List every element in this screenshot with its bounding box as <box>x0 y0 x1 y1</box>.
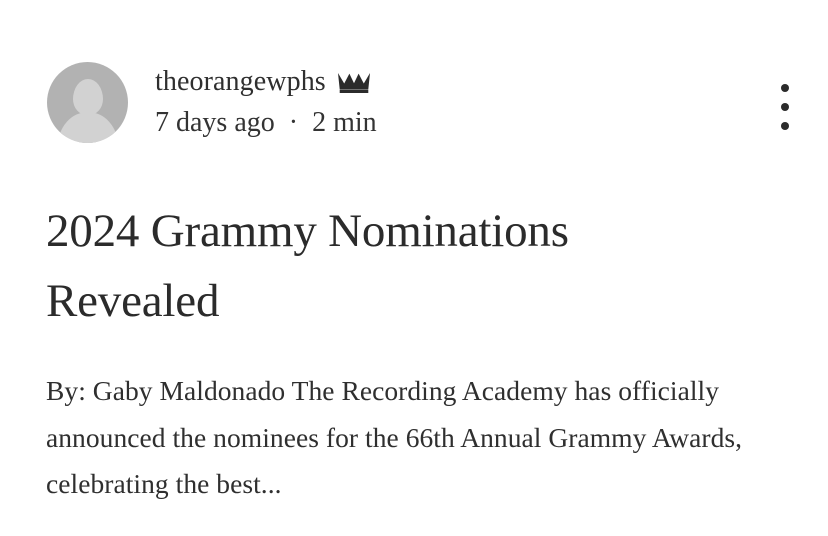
author-line: theorangewphs <box>155 62 715 102</box>
kebab-dot-3 <box>781 122 789 130</box>
avatar[interactable] <box>47 62 128 143</box>
post-header-text: theorangewphs 7 days ago · 2 min <box>155 62 715 142</box>
kebab-dot-1 <box>781 84 789 92</box>
post-title[interactable]: 2024 Grammy Nominations Revealed <box>46 196 746 336</box>
crown-icon <box>337 72 371 94</box>
published-time: 7 days ago <box>155 106 275 140</box>
post-header: theorangewphs 7 days ago · 2 min <box>47 62 787 144</box>
post-excerpt[interactable]: By: Gaby Maldonado The Recording Academy… <box>46 368 746 508</box>
blog-post-card[interactable]: theorangewphs 7 days ago · 2 min 2024 Gr… <box>0 0 828 536</box>
default-user-avatar-body <box>58 112 118 143</box>
kebab-menu-icon[interactable] <box>772 84 798 130</box>
post-meta: 7 days ago · 2 min <box>155 104 715 142</box>
kebab-dot-2 <box>781 103 789 111</box>
read-time: 2 min <box>312 106 377 140</box>
default-user-avatar-head <box>73 79 103 115</box>
author-name[interactable]: theorangewphs <box>155 65 326 99</box>
meta-separator: · <box>289 106 298 140</box>
